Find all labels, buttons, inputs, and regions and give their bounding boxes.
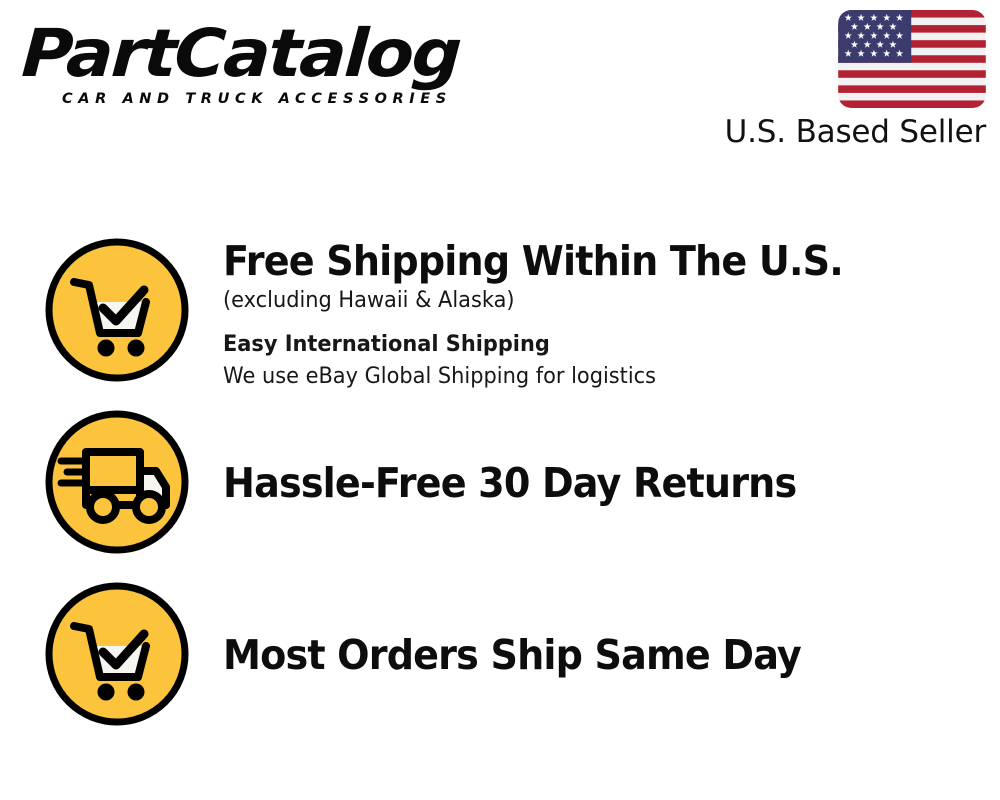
us-based-seller-badge: U.S. Based Seller (716, 10, 986, 150)
feature-row-same-day-shipping: Most Orders Ship Same Day (0, 580, 1000, 740)
feature-secondary-title: Easy International Shipping (223, 330, 961, 360)
shopping-cart-check-icon (43, 580, 191, 728)
page-header: PartCatalog CAR AND TRUCK ACCESSORIES (0, 0, 1000, 175)
delivery-truck-icon (43, 408, 191, 556)
feature-subtitle: (excluding Hawaii & Alaska) (223, 286, 961, 316)
us-flag-icon (838, 10, 986, 108)
feature-title: Hassle-Free 30 Day Returns (223, 460, 946, 506)
feature-secondary-subtitle: We use eBay Global Shipping for logistic… (223, 362, 961, 392)
feature-text-free-shipping: Free Shipping Within The U.S. (excluding… (191, 236, 1000, 392)
feature-title: Free Shipping Within The U.S. (223, 238, 946, 284)
feature-list: Free Shipping Within The U.S. (excluding… (0, 236, 1000, 740)
brand-wordmark: PartCatalog (20, 18, 522, 90)
feature-row-returns: Hassle-Free 30 Day Returns (0, 408, 1000, 580)
us-based-seller-label: U.S. Based Seller (716, 114, 986, 150)
feature-text-same-day: Most Orders Ship Same Day (191, 580, 1000, 678)
feature-title: Most Orders Ship Same Day (223, 632, 946, 678)
feature-text-returns: Hassle-Free 30 Day Returns (191, 408, 1000, 506)
brand-logo[interactable]: PartCatalog CAR AND TRUCK ACCESSORIES (24, 18, 494, 114)
brand-tagline: CAR AND TRUCK ACCESSORIES (62, 91, 494, 107)
feature-row-free-shipping: Free Shipping Within The U.S. (excluding… (0, 236, 1000, 408)
shopping-cart-check-icon (43, 236, 191, 384)
